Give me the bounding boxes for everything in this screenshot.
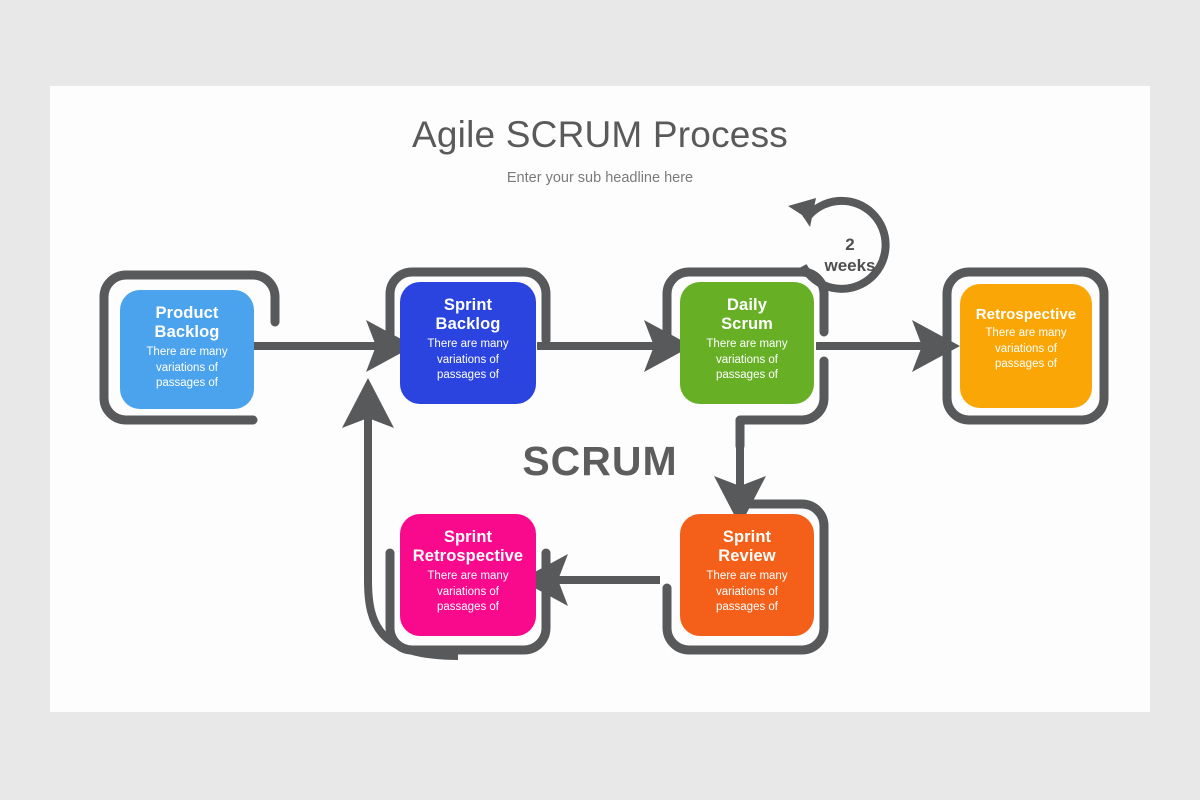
node-daily-scrum-title-line2: Scrum xyxy=(688,315,806,334)
node-product-backlog-title-line2: Backlog xyxy=(128,323,246,342)
node-sprint-review-title-line2: Review xyxy=(688,547,806,566)
node-daily-scrum-desc: There are many variations of passages of xyxy=(688,337,806,383)
page-root: Agile SCRUM Process Enter your sub headl… xyxy=(0,0,1200,800)
node-sprint-review[interactable]: Sprint Review There are many variations … xyxy=(680,514,814,636)
node-sprint-backlog-title-line2: Backlog xyxy=(408,315,528,334)
node-retrospective-desc: There are many variations of passages of xyxy=(968,326,1084,372)
node-sprint-backlog[interactable]: Sprint Backlog There are many variations… xyxy=(400,282,536,404)
node-product-backlog-desc-line3: passages of xyxy=(128,376,246,391)
node-sprint-retrospective-desc: There are many variations of passages of xyxy=(408,569,528,615)
node-sprint-backlog-desc: There are many variations of passages of xyxy=(408,337,528,383)
node-daily-scrum-desc-line2: variations of xyxy=(688,353,806,368)
arrow-sprint-review-to-sprint-retrospective xyxy=(520,554,660,606)
node-product-backlog-title: Product Backlog xyxy=(128,304,246,342)
node-sprint-retrospective-title-line2: Retrospective xyxy=(408,547,528,566)
node-product-backlog-desc-line2: variations of xyxy=(128,361,246,376)
node-sprint-backlog-desc-line1: There are many xyxy=(408,337,528,352)
node-sprint-review-title: Sprint Review xyxy=(688,528,806,566)
node-retrospective-desc-line2: variations of xyxy=(968,342,1084,357)
node-daily-scrum-desc-line3: passages of xyxy=(688,368,806,383)
node-sprint-review-title-line1: Sprint xyxy=(688,528,806,547)
node-sprint-review-desc: There are many variations of passages of xyxy=(688,569,806,615)
node-sprint-backlog-title-line1: Sprint xyxy=(408,296,528,315)
node-product-backlog[interactable]: Product Backlog There are many variation… xyxy=(120,290,254,409)
node-sprint-backlog-title: Sprint Backlog xyxy=(408,296,528,334)
node-sprint-retrospective-desc-line3: passages of xyxy=(408,600,528,615)
node-sprint-retrospective-desc-line1: There are many xyxy=(408,569,528,584)
node-daily-scrum[interactable]: Daily Scrum There are many variations of… xyxy=(680,282,814,404)
node-sprint-backlog-desc-line3: passages of xyxy=(408,368,528,383)
node-product-backlog-desc-line1: There are many xyxy=(128,345,246,360)
node-sprint-backlog-desc-line2: variations of xyxy=(408,353,528,368)
node-daily-scrum-desc-line1: There are many xyxy=(688,337,806,352)
page-title: Agile SCRUM Process xyxy=(50,114,1150,156)
two-weeks-label-line2: weeks xyxy=(805,255,895,276)
center-scrum-label: SCRUM xyxy=(50,438,1150,485)
slide-canvas: Agile SCRUM Process Enter your sub headl… xyxy=(50,86,1150,712)
frame-product-backlog-right-stub xyxy=(253,275,275,322)
two-weeks-label: 2 weeks xyxy=(805,234,895,277)
node-daily-scrum-title: Daily Scrum xyxy=(688,296,806,334)
two-weeks-label-line1: 2 xyxy=(805,234,895,255)
node-sprint-review-desc-line3: passages of xyxy=(688,600,806,615)
node-sprint-retrospective-desc-line2: variations of xyxy=(408,585,528,600)
node-retrospective[interactable]: Retrospective There are many variations … xyxy=(960,284,1092,408)
page-subtitle: Enter your sub headline here xyxy=(50,170,1150,186)
arrow-daily-scrum-to-retrospective xyxy=(816,320,960,372)
node-product-backlog-title-line1: Product xyxy=(128,304,246,323)
node-retrospective-title-line1: Retrospective xyxy=(968,306,1084,323)
node-sprint-retrospective-title: Sprint Retrospective xyxy=(408,528,528,566)
node-product-backlog-desc: There are many variations of passages of xyxy=(128,345,246,391)
node-sprint-review-desc-line2: variations of xyxy=(688,585,806,600)
node-sprint-retrospective-title-line1: Sprint xyxy=(408,528,528,547)
node-retrospective-title: Retrospective xyxy=(968,306,1084,323)
node-daily-scrum-title-line1: Daily xyxy=(688,296,806,315)
node-sprint-review-desc-line1: There are many xyxy=(688,569,806,584)
node-sprint-retrospective[interactable]: Sprint Retrospective There are many vari… xyxy=(400,514,536,636)
node-retrospective-desc-line3: passages of xyxy=(968,357,1084,372)
node-retrospective-desc-line1: There are many xyxy=(968,326,1084,341)
